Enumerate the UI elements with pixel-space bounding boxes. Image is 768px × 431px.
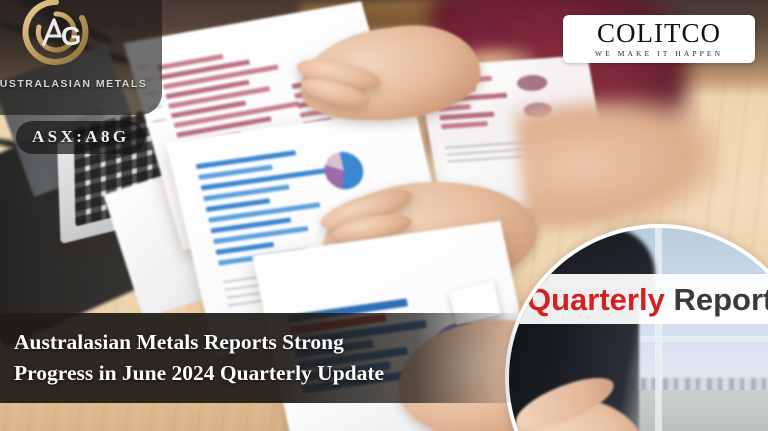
- svg-text:G: G: [61, 21, 81, 51]
- brand-logo-panel: G AUSTRALASIAN METALS: [0, 0, 162, 115]
- news-article-banner: G AUSTRALASIAN METALS ASX:A8G COLITCO WE…: [0, 0, 768, 431]
- headline-line-2: Progress in June 2024 Quarterly Update: [14, 358, 384, 389]
- headline-band: Australasian Metals Reports Strong Progr…: [0, 313, 520, 403]
- headline-line-1: Australasian Metals Reports Strong: [14, 327, 384, 358]
- a8g-ring-logo-icon: G: [20, 0, 92, 68]
- window-mullion-vertical: [655, 228, 662, 431]
- report-word: Report: [673, 282, 768, 317]
- quarterly-report-label: Quarterly Report: [527, 284, 768, 315]
- right-arm: [514, 86, 726, 236]
- quarterly-word: Quarterly: [527, 282, 665, 317]
- quarterly-report-label-band: Quarterly Report: [509, 274, 768, 324]
- quarterly-report-circle-inset: Quarterly Report: [505, 224, 768, 431]
- inset-window-scene: [509, 228, 768, 431]
- publisher-name: COLITCO: [597, 20, 721, 47]
- article-headline: Australasian Metals Reports Strong Progr…: [0, 327, 384, 388]
- report-pie-chart: [516, 74, 549, 92]
- brand-company-name: AUSTRALASIAN METALS: [0, 78, 162, 90]
- asx-ticker-badge: ASX:A8G: [16, 121, 145, 154]
- publisher-tagline: WE MAKE IT HAPPEN: [595, 50, 723, 58]
- report-pie-chart-blue: [321, 149, 367, 191]
- publisher-logo[interactable]: COLITCO WE MAKE IT HAPPEN: [563, 15, 755, 63]
